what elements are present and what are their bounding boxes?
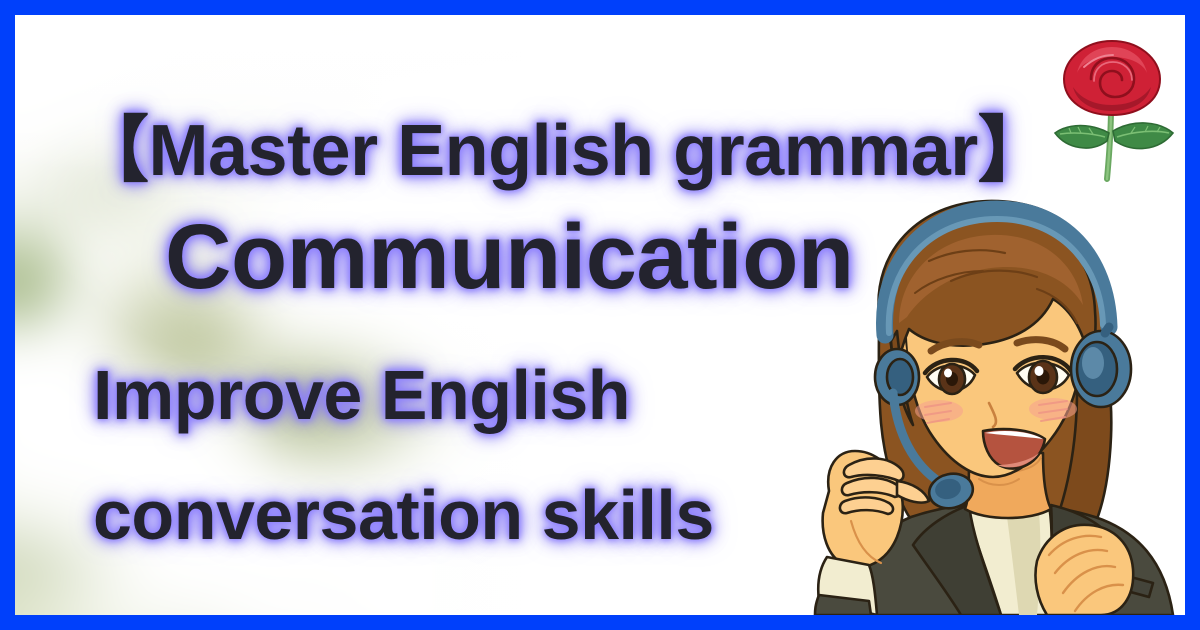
headline-line-4: conversation skills bbox=[93, 475, 714, 555]
call-center-operator-illustration bbox=[801, 165, 1185, 615]
banner-canvas: 【Master English grammar】 Communication I… bbox=[15, 15, 1185, 615]
headline-line-2: Communication bbox=[165, 205, 854, 310]
headline-line-3: Improve English bbox=[93, 355, 630, 435]
thumbnail-banner: 【Master English grammar】 Communication I… bbox=[0, 0, 1200, 630]
